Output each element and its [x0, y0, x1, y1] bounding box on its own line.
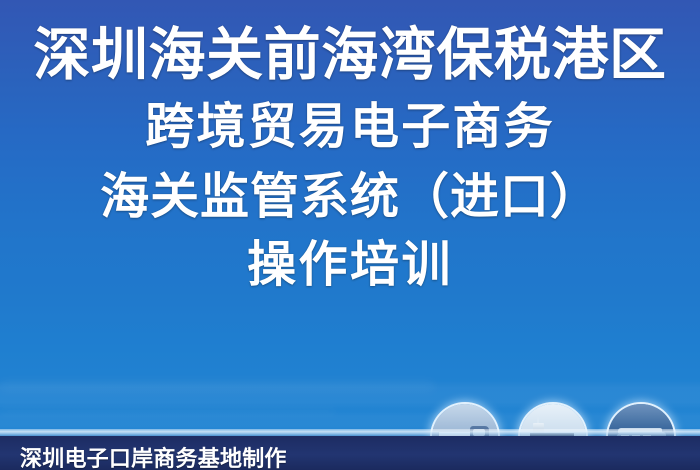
- footer-credit-text: 深圳电子口岸商务基地制作: [20, 448, 287, 470]
- title-line-1: 深圳海关前海湾保税港区: [0, 22, 700, 88]
- background-streak-lower: [0, 408, 336, 415]
- title-line-2: 跨境贸易电子商务: [0, 96, 700, 158]
- title-line-4: 操作培训: [0, 234, 700, 296]
- footer-divider: [0, 429, 700, 436]
- title-line-3: 海关监管系统（进口）: [0, 166, 700, 228]
- presentation-cover-slide: 深圳海关前海湾保税港区 跨境贸易电子商务 海关监管系统（进口） 操作培训: [0, 0, 700, 470]
- background-streak-upper: [0, 381, 434, 391]
- title-block: 深圳海关前海湾保税港区 跨境贸易电子商务 海关监管系统（进口） 操作培训: [0, 22, 700, 296]
